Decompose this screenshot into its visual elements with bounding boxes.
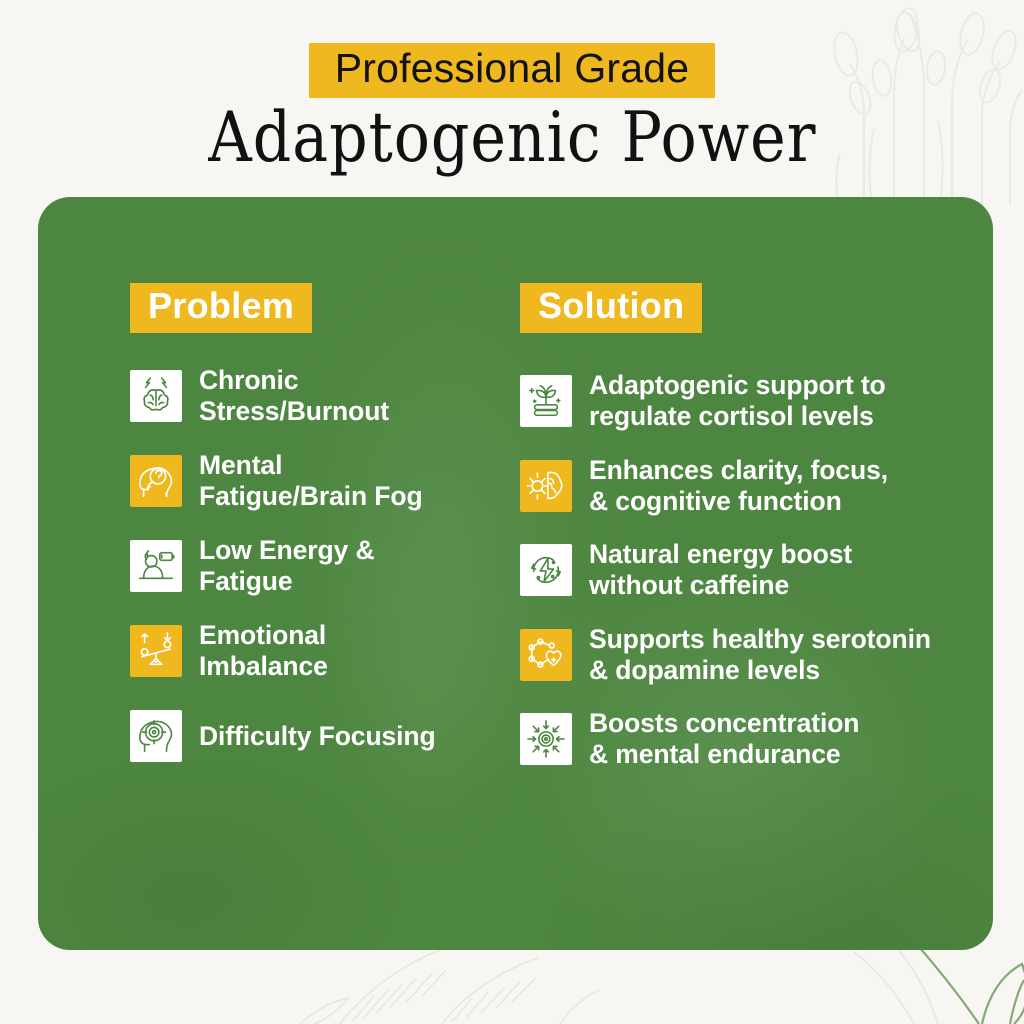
solution-column: Solution Ada <box>438 283 993 950</box>
comparison-panel: Problem Chronic Stress/Burn <box>38 197 993 950</box>
eyebrow-text: Professional Grade <box>335 45 690 91</box>
tired-person-low-battery-icon <box>130 540 182 592</box>
list-item[interactable]: Difficulty Focusing <box>130 710 438 762</box>
list-item-label: Natural energy boost without caffeine <box>589 539 852 602</box>
list-item[interactable]: Enhances clarity, focus, & cognitive fun… <box>520 455 993 518</box>
sprouting-herb-icon <box>520 375 572 427</box>
list-item-label: Low Energy & Fatigue <box>199 535 438 597</box>
target-converging-arrows-icon <box>520 713 572 765</box>
list-item-label: Adaptogenic support to regulate cortisol… <box>589 370 886 433</box>
head-target-crosshair-icon <box>130 710 182 762</box>
lightning-recycle-icon <box>520 544 572 596</box>
list-item[interactable]: Chronic Stress/Burnout <box>130 370 438 422</box>
list-item[interactable]: Mental Fatigue/Brain Fog <box>130 455 438 507</box>
list-item[interactable]: Emotional Imbalance <box>130 625 438 677</box>
list-item[interactable]: Low Energy & Fatigue <box>130 540 438 592</box>
list-item-label: Chronic Stress/Burnout <box>199 365 438 427</box>
solution-badge-label: Solution <box>538 285 684 326</box>
columns-wrapper: Problem Chronic Stress/Burn <box>38 197 993 950</box>
list-item-label: Enhances clarity, focus, & cognitive fun… <box>589 455 888 518</box>
problem-badge: Problem <box>130 283 312 333</box>
list-item[interactable]: Supports healthy serotonin & dopamine le… <box>520 624 993 687</box>
head-question-thought-icon <box>130 455 182 507</box>
solution-list: Adaptogenic support to regulate cortisol… <box>520 370 993 793</box>
solution-badge: Solution <box>520 283 702 333</box>
list-item-label: Boosts concentration & mental endurance <box>589 708 859 771</box>
seesaw-balance-arrows-icon <box>130 625 182 677</box>
brain-lightning-icon <box>130 370 182 422</box>
list-item-label: Difficulty Focusing <box>199 721 436 752</box>
header: Professional Grade Adaptogenic Power <box>0 0 1024 197</box>
list-item-label: Supports healthy serotonin & dopamine le… <box>589 624 931 687</box>
list-item[interactable]: Adaptogenic support to regulate cortisol… <box>520 370 993 433</box>
problem-badge-label: Problem <box>148 285 294 326</box>
page-title: Adaptogenic Power <box>208 96 816 178</box>
list-item-label: Emotional Imbalance <box>199 620 438 682</box>
list-item[interactable]: Natural energy boost without caffeine <box>520 539 993 602</box>
eyebrow-badge: Professional Grade <box>309 43 716 98</box>
gear-brain-icon <box>520 460 572 512</box>
list-item[interactable]: Boosts concentration & mental endurance <box>520 708 993 771</box>
problem-list: Chronic Stress/Burnout Mental Fat <box>130 370 438 795</box>
problem-column: Problem Chronic Stress/Burn <box>38 283 438 950</box>
molecule-heart-icon <box>520 629 572 681</box>
list-item-label: Mental Fatigue/Brain Fog <box>199 450 438 512</box>
